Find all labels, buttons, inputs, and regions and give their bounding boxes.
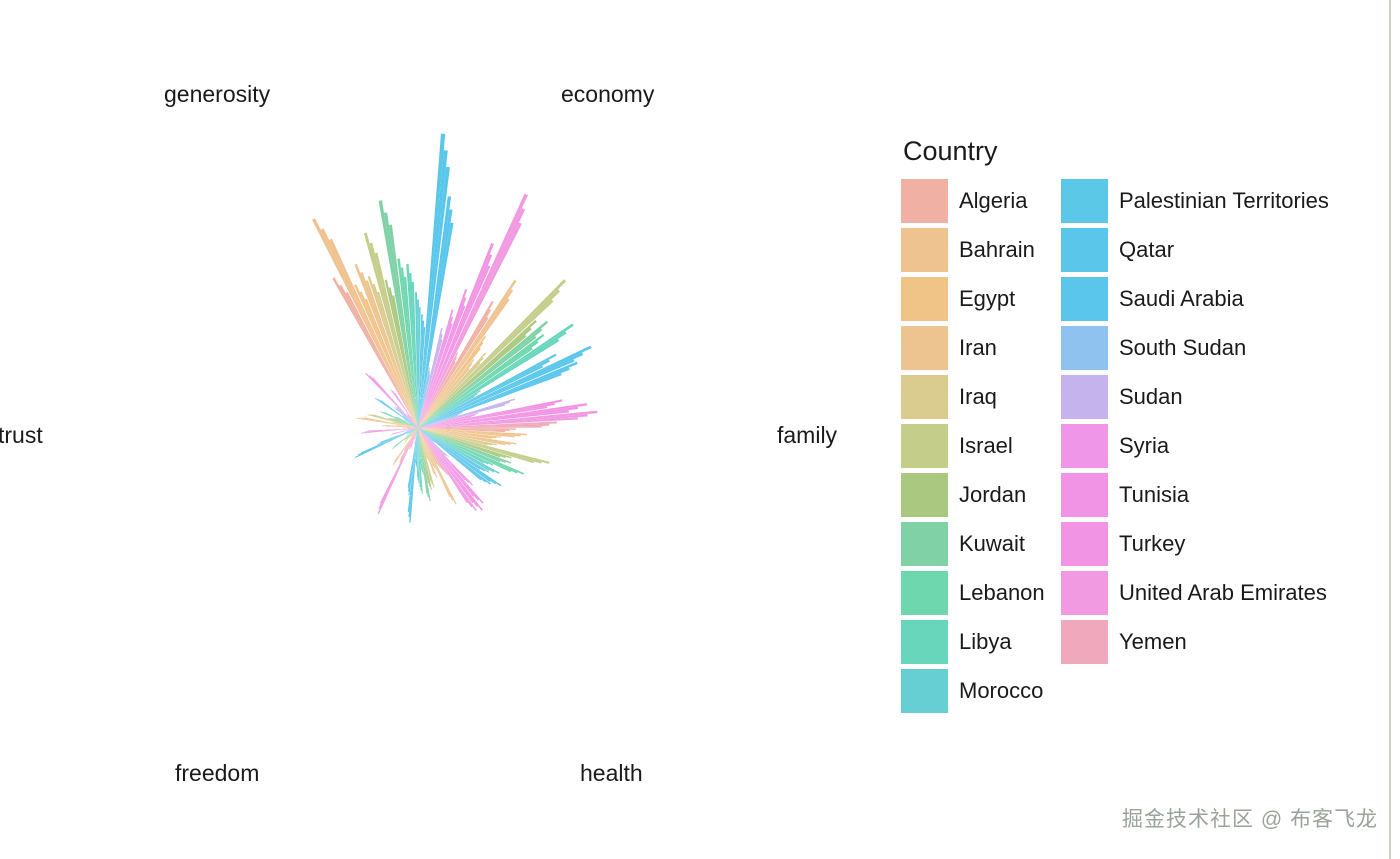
legend-swatch — [901, 522, 948, 566]
watermark: 掘金技术社区 @ 布客飞龙 — [1122, 803, 1378, 833]
legend-swatch — [901, 669, 948, 713]
legend-item-label: Libya — [959, 630, 1012, 654]
legend-title: Country — [903, 136, 1381, 166]
axis-label-health: health — [580, 760, 643, 787]
legend-item[interactable]: Turkey — [1061, 519, 1381, 568]
legend-item-label: Sudan — [1119, 385, 1183, 409]
legend: Country AlgeriaBahrainEgyptIranIraqIsrae… — [901, 136, 1381, 715]
legend-item-label: Morocco — [959, 679, 1043, 703]
axis-label-family: family — [777, 422, 837, 449]
legend-item-label: United Arab Emirates — [1119, 581, 1327, 605]
legend-item[interactable]: Lebanon — [901, 568, 1061, 617]
legend-swatch — [1061, 375, 1108, 419]
legend-swatch — [1061, 326, 1108, 370]
polar-chart-svg — [0, 0, 880, 859]
legend-swatch — [1061, 620, 1108, 664]
axis-label-economy: economy — [561, 81, 654, 108]
legend-item-label: Bahrain — [959, 238, 1035, 262]
legend-item-label: Algeria — [959, 189, 1027, 213]
legend-item-label: South Sudan — [1119, 336, 1246, 360]
legend-item-label: Palestinian Territories — [1119, 189, 1329, 213]
legend-swatch — [1061, 179, 1108, 223]
legend-swatch — [1061, 571, 1108, 615]
legend-swatch — [1061, 424, 1108, 468]
legend-item[interactable]: Bahrain — [901, 225, 1061, 274]
legend-item[interactable]: Jordan — [901, 470, 1061, 519]
axis-label-generosity: generosity — [164, 81, 270, 108]
legend-item-label: Yemen — [1119, 630, 1187, 654]
legend-swatch — [901, 228, 948, 272]
legend-swatch — [901, 473, 948, 517]
legend-item-label: Egypt — [959, 287, 1015, 311]
legend-column-right: Palestinian TerritoriesQatarSaudi Arabia… — [1061, 176, 1381, 666]
legend-item[interactable]: United Arab Emirates — [1061, 568, 1381, 617]
legend-item[interactable]: Tunisia — [1061, 470, 1381, 519]
legend-item[interactable]: Palestinian Territories — [1061, 176, 1381, 225]
legend-item-label: Israel — [959, 434, 1013, 458]
legend-swatch — [901, 571, 948, 615]
legend-item-label: Tunisia — [1119, 483, 1189, 507]
legend-swatch — [901, 375, 948, 419]
legend-item[interactable]: Egypt — [901, 274, 1061, 323]
legend-columns: AlgeriaBahrainEgyptIranIraqIsraelJordanK… — [901, 176, 1381, 715]
legend-item[interactable]: Qatar — [1061, 225, 1381, 274]
legend-swatch — [1061, 228, 1108, 272]
legend-item-label: Lebanon — [959, 581, 1045, 605]
legend-swatch — [1061, 522, 1108, 566]
legend-item[interactable]: Morocco — [901, 666, 1061, 715]
legend-swatch — [901, 620, 948, 664]
legend-swatch — [1061, 473, 1108, 517]
legend-item-label: Qatar — [1119, 238, 1174, 262]
legend-item[interactable]: South Sudan — [1061, 323, 1381, 372]
legend-item-label: Jordan — [959, 483, 1026, 507]
axis-label-freedom: freedom — [175, 760, 259, 787]
legend-item[interactable]: Libya — [901, 617, 1061, 666]
page-right-rule — [1389, 0, 1391, 859]
legend-swatch — [901, 424, 948, 468]
axis-label-trust: trust — [0, 422, 43, 449]
legend-item[interactable]: Yemen — [1061, 617, 1381, 666]
legend-item[interactable]: Kuwait — [901, 519, 1061, 568]
legend-item[interactable]: Saudi Arabia — [1061, 274, 1381, 323]
legend-swatch — [901, 179, 948, 223]
legend-item[interactable]: Iran — [901, 323, 1061, 372]
legend-swatch — [1061, 277, 1108, 321]
legend-swatch — [901, 326, 948, 370]
legend-item-label: Saudi Arabia — [1119, 287, 1244, 311]
legend-item-label: Turkey — [1119, 532, 1185, 556]
legend-swatch — [901, 277, 948, 321]
legend-column-left: AlgeriaBahrainEgyptIranIraqIsraelJordanK… — [901, 176, 1061, 715]
legend-item-label: Iran — [959, 336, 997, 360]
legend-item-label: Syria — [1119, 434, 1169, 458]
legend-item[interactable]: Syria — [1061, 421, 1381, 470]
legend-item[interactable]: Algeria — [901, 176, 1061, 225]
legend-item[interactable]: Israel — [901, 421, 1061, 470]
radial-bar-chart: generosity economy trust family freedom … — [0, 0, 880, 859]
legend-item-label: Iraq — [959, 385, 997, 409]
legend-item-label: Kuwait — [959, 532, 1025, 556]
page-root: generosity economy trust family freedom … — [0, 0, 1400, 859]
legend-item[interactable]: Iraq — [901, 372, 1061, 421]
legend-item[interactable]: Sudan — [1061, 372, 1381, 421]
